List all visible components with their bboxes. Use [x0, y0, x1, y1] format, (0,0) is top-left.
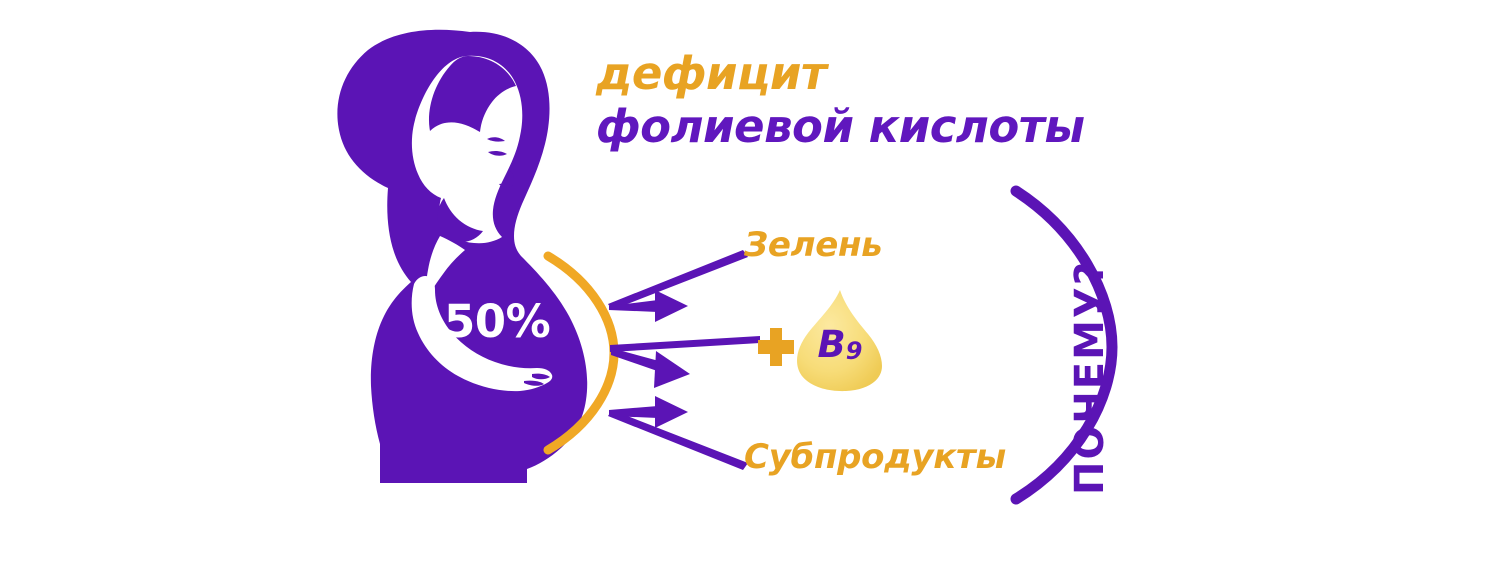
source-label-greens: Зелень: [744, 225, 882, 265]
question-arc: [1000, 185, 1160, 505]
headline-deficit: дефицит: [596, 48, 1116, 100]
source-label-offal: Субпродукты: [744, 437, 1006, 477]
infographic-canvas: 50%: [0, 0, 1504, 576]
arrow-top: [608, 250, 748, 322]
arrow-bottom: [608, 396, 748, 470]
headline-block: дефицит фолиевой кислоты: [596, 48, 1116, 154]
headline-folic-acid: фолиевой кислоты: [596, 100, 1116, 154]
arrow-middle: [610, 336, 760, 388]
plus-icon: [756, 326, 796, 368]
vitamin-droplet-icon: [796, 288, 884, 392]
